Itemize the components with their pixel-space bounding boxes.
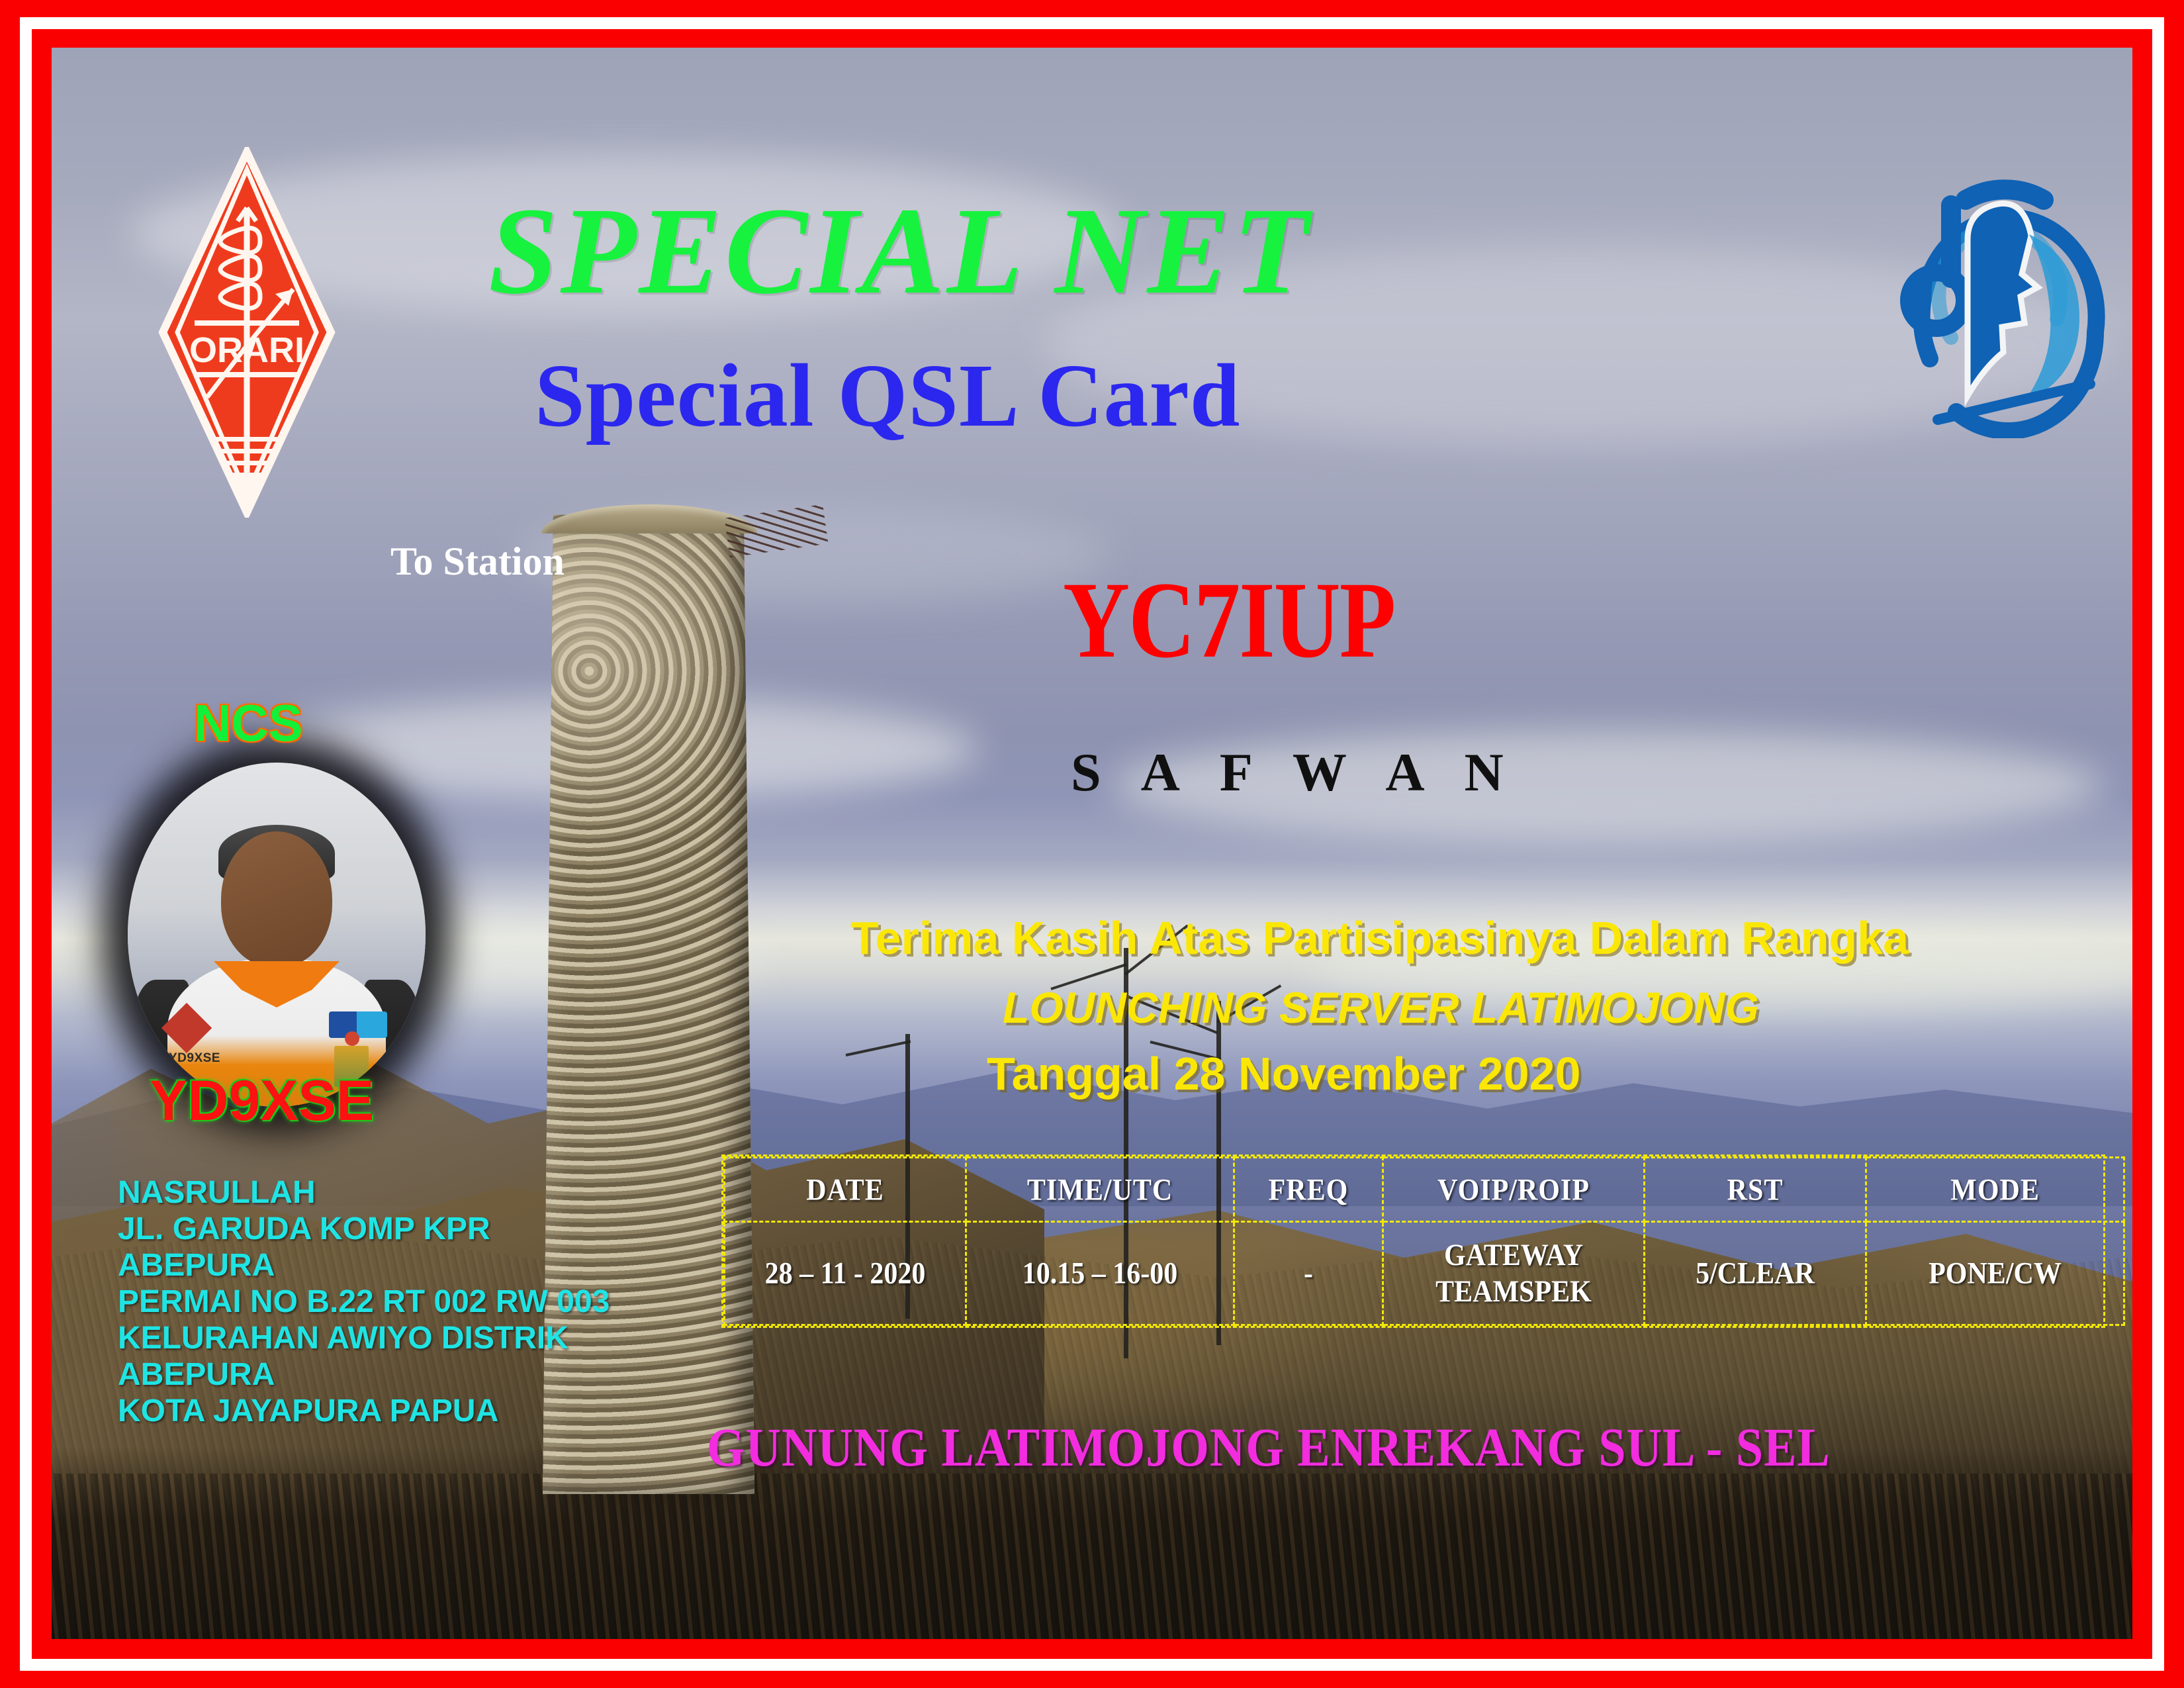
cell-mode: PONE/CW	[1866, 1217, 2124, 1331]
ncs-operator-photo: YD9XSE	[128, 763, 426, 1107]
cell-freq: -	[1234, 1217, 1383, 1331]
operator-name: S A F W A N	[1071, 741, 1518, 804]
table-header-row: DATE TIME/UTC FREQ VOIP/ROIP RST MODE	[725, 1158, 2124, 1222]
column-header-rst: RST	[1645, 1154, 1866, 1225]
operator-face	[221, 831, 332, 967]
event-line: LOUNCHING SERVER LATIMOJONG	[1003, 982, 1759, 1033]
location-line: GUNUNG LATIMOJONG ENREKANG SUL - SEL	[707, 1417, 1831, 1479]
recipient-address-block: NASRULLAH JL. GARUDA KOMP KPR ABEPURA PE…	[118, 1174, 610, 1429]
cell-time: 10.15 – 16-00	[966, 1217, 1234, 1331]
dark-foreground-texture	[52, 1474, 2132, 1639]
card-subtitle-qsl: Special QSL Card	[535, 344, 1240, 447]
qso-details-table: DATE TIME/UTC FREQ VOIP/ROIP RST MODE 28…	[721, 1154, 2105, 1328]
column-header-date: DATE	[725, 1154, 966, 1225]
column-header-freq: FREQ	[1234, 1154, 1383, 1225]
qsl-card: ORARI	[0, 0, 2184, 1688]
address-line: KOTA JAYAPURA PAPUA	[118, 1393, 610, 1429]
ncs-label: NCS	[194, 693, 303, 753]
photo-oval-vignette: YD9XSE	[128, 763, 426, 1107]
cell-rst: 5/CLEAR	[1645, 1217, 1866, 1331]
headset-profile-logo	[1852, 160, 2132, 438]
address-line: KELURAHAN AWIYO DISTRIK	[118, 1320, 610, 1356]
orari-logo: ORARI	[158, 147, 336, 518]
column-header-voip: VOIP/ROIP	[1383, 1154, 1645, 1225]
address-line: PERMAI NO B.22 RT 002 RW 003	[118, 1284, 610, 1320]
table-row: 28 – 11 - 2020 10.15 – 16-00 - GATEWAY T…	[725, 1222, 2124, 1325]
card-photo-area: ORARI	[52, 48, 2132, 1639]
cell-voip-line1: GATEWAY	[1385, 1237, 1643, 1274]
cell-date: 28 – 11 - 2020	[725, 1217, 966, 1331]
address-line: ABEPURA	[118, 1247, 610, 1284]
event-date-line: Tanggal 28 November 2020	[987, 1047, 1580, 1100]
column-header-time: TIME/UTC	[966, 1154, 1234, 1225]
station-callsign: YC7IUP	[1063, 557, 1394, 683]
cell-voip: GATEWAY TEAMSPEK	[1383, 1217, 1645, 1331]
card-title-special-net: SPECIAL NET	[488, 179, 1312, 322]
cell-voip-line2: TEAMSPEK	[1385, 1274, 1643, 1310]
address-line: NASRULLAH	[118, 1174, 610, 1211]
uniform-callsign-text: YD9XSE	[169, 1051, 220, 1066]
to-station-label: To Station	[390, 539, 565, 585]
id-card-clip	[345, 1031, 359, 1046]
ncs-callsign: YD9XSE	[150, 1068, 374, 1134]
address-line: JL. GARUDA KOMP KPR	[118, 1211, 610, 1247]
thanks-line: Terima Kasih Atas Partisipasinya Dalam R…	[850, 912, 1909, 964]
address-line: ABEPURA	[118, 1356, 610, 1393]
column-header-mode: MODE	[1866, 1154, 2124, 1225]
motto-text: "AMATIR RADIO ADALAH PROGRESIVE"	[131, 1630, 1146, 1639]
web-address: Address : amatir.latimojong.com	[1312, 1633, 2017, 1639]
orari-logo-text: ORARI	[189, 330, 304, 370]
